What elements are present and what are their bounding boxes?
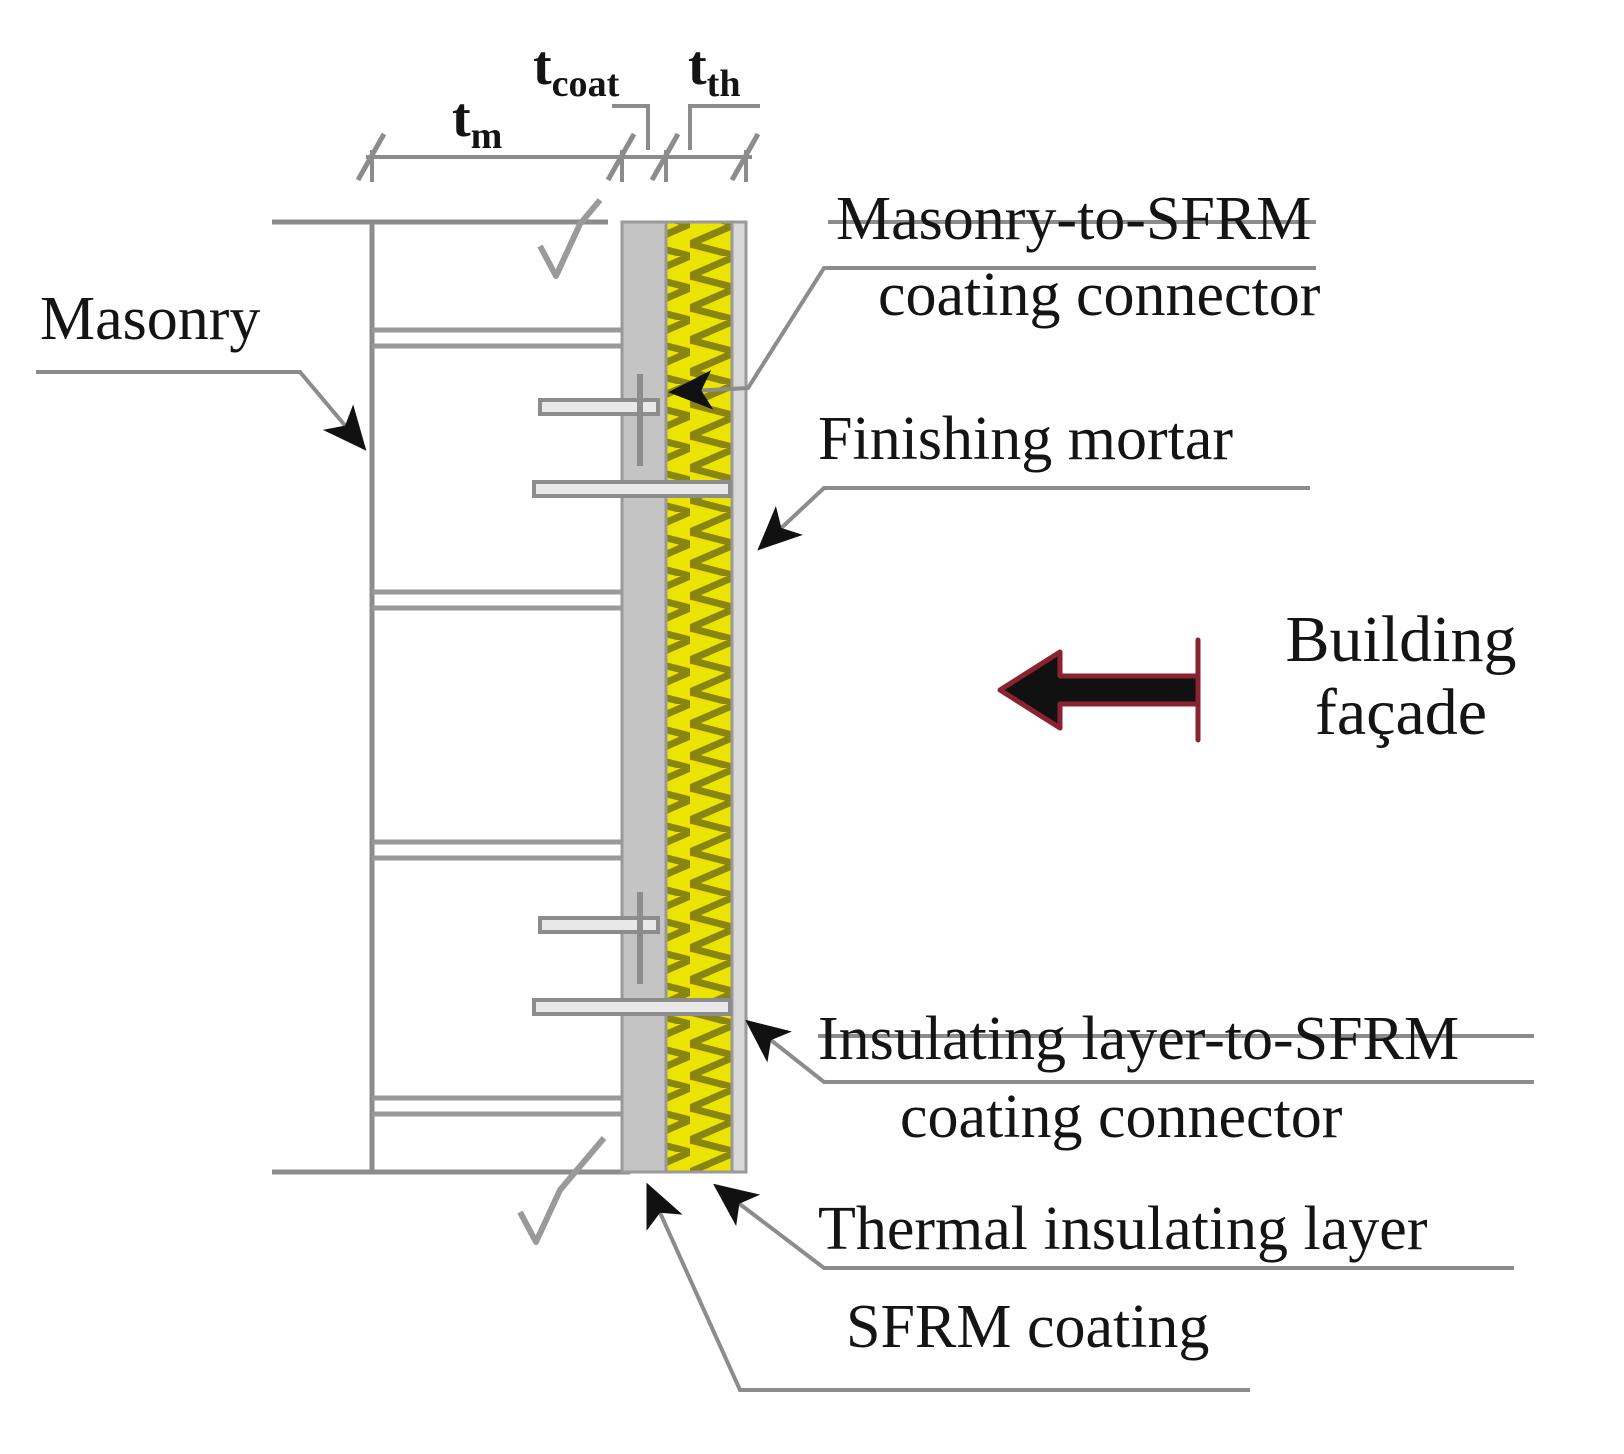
masonry-to-sfrm-connector-lower xyxy=(540,892,658,984)
label-sfrm-coating: SFRM coating xyxy=(846,1294,1209,1361)
dimension-label-tcoat: tcoat xyxy=(533,36,619,105)
thermal-insulating-layer xyxy=(666,222,732,1172)
dimension-label-tth: tth xyxy=(688,36,741,105)
masonry-to-sfrm-connector-upper xyxy=(540,374,658,466)
masonry-layer xyxy=(272,200,630,1242)
label-masonry-to-sfrm-connector-line2: coating connector xyxy=(878,262,1320,329)
label-finishing-mortar: Finishing mortar xyxy=(818,406,1233,473)
diagram-canvas: tm tcoat tth Masonry Masonry-to-SFRM coa… xyxy=(0,0,1624,1454)
label-thermal-insulating-layer: Thermal insulating layer xyxy=(818,1196,1427,1263)
label-insulating-layer-connector-line2: coating connector xyxy=(900,1084,1342,1151)
label-building-facade-line2: façade xyxy=(1216,677,1586,750)
finishing-mortar-layer xyxy=(732,222,746,1172)
sfrm-coating-layer xyxy=(622,222,666,1172)
mortar-bed-joints xyxy=(372,330,622,1114)
dimension-line xyxy=(358,106,760,182)
wall-layer-stack xyxy=(622,222,746,1172)
label-insulating-layer-connector-line1: Insulating layer-to-SFRM xyxy=(818,1006,1459,1073)
label-building-facade: Building façade xyxy=(1216,604,1586,749)
insulating-layer-connector-upper xyxy=(534,482,730,496)
insulating-layer-connector-lower xyxy=(534,1000,730,1014)
label-masonry-to-sfrm-connector-line1: Masonry-to-SFRM xyxy=(836,186,1311,253)
label-building-facade-line1: Building xyxy=(1216,604,1586,677)
dimension-label-tm: tm xyxy=(452,88,502,157)
label-masonry: Masonry xyxy=(40,286,260,353)
building-facade-arrow xyxy=(1000,640,1198,740)
